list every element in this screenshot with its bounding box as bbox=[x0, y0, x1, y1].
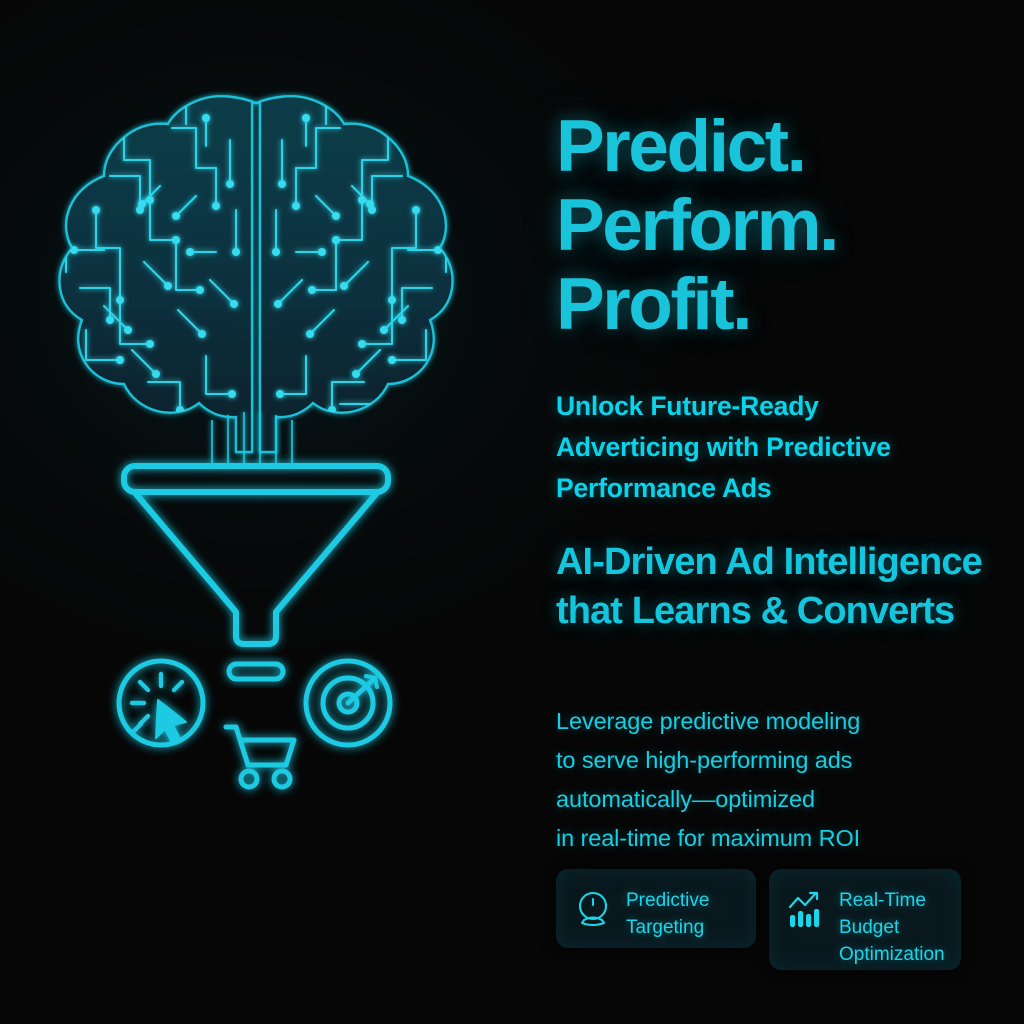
badge-label: Predictive Targeting bbox=[626, 887, 709, 941]
badge-real-time-budget-optimization[interactable]: Real-Time Budget Optimization bbox=[769, 869, 961, 970]
badge-label: Real-Time Budget Optimization bbox=[839, 887, 945, 968]
funnel-drip-icon bbox=[229, 664, 283, 679]
marketing-funnel-icon bbox=[124, 466, 388, 644]
crystal-ball-icon bbox=[573, 889, 613, 931]
bar-chart-trend-icon bbox=[786, 889, 826, 931]
click-cursor-icon bbox=[119, 661, 203, 745]
content-column: Predict. Perform. Profit. Unlock Future-… bbox=[556, 0, 1024, 1024]
badge-predictive-targeting[interactable]: Predictive Targeting bbox=[556, 869, 756, 948]
body-line: Leverage predictive modeling bbox=[556, 702, 976, 741]
body-line: to serve high-performing ads bbox=[556, 741, 976, 780]
brain-icon bbox=[60, 96, 453, 468]
feature-badges: Predictive Targeting Real-Time Budget bbox=[556, 869, 961, 970]
headline-block: Predict. Perform. Profit. bbox=[556, 107, 837, 345]
ai-funnel-illustration bbox=[0, 0, 512, 1024]
headline-line-3: Profit. bbox=[556, 265, 837, 344]
headline-line-1: Predict. bbox=[556, 107, 837, 186]
section-title: AI-Driven Ad Intelligence that Learns & … bbox=[556, 538, 986, 637]
subheadline: Unlock Future-Ready Adverticing with Pre… bbox=[556, 386, 956, 508]
section-body-copy: Leverage predictive modeling to serve hi… bbox=[556, 702, 976, 858]
poster-canvas: Predict. Perform. Profit. Unlock Future-… bbox=[0, 0, 1024, 1024]
body-line: in real-time for maximum ROI bbox=[556, 819, 976, 858]
target-bullseye-icon bbox=[306, 661, 390, 745]
body-line: automatically—optimized bbox=[556, 780, 976, 819]
shopping-cart-icon bbox=[226, 727, 294, 787]
headline-line-2: Perform. bbox=[556, 186, 837, 265]
